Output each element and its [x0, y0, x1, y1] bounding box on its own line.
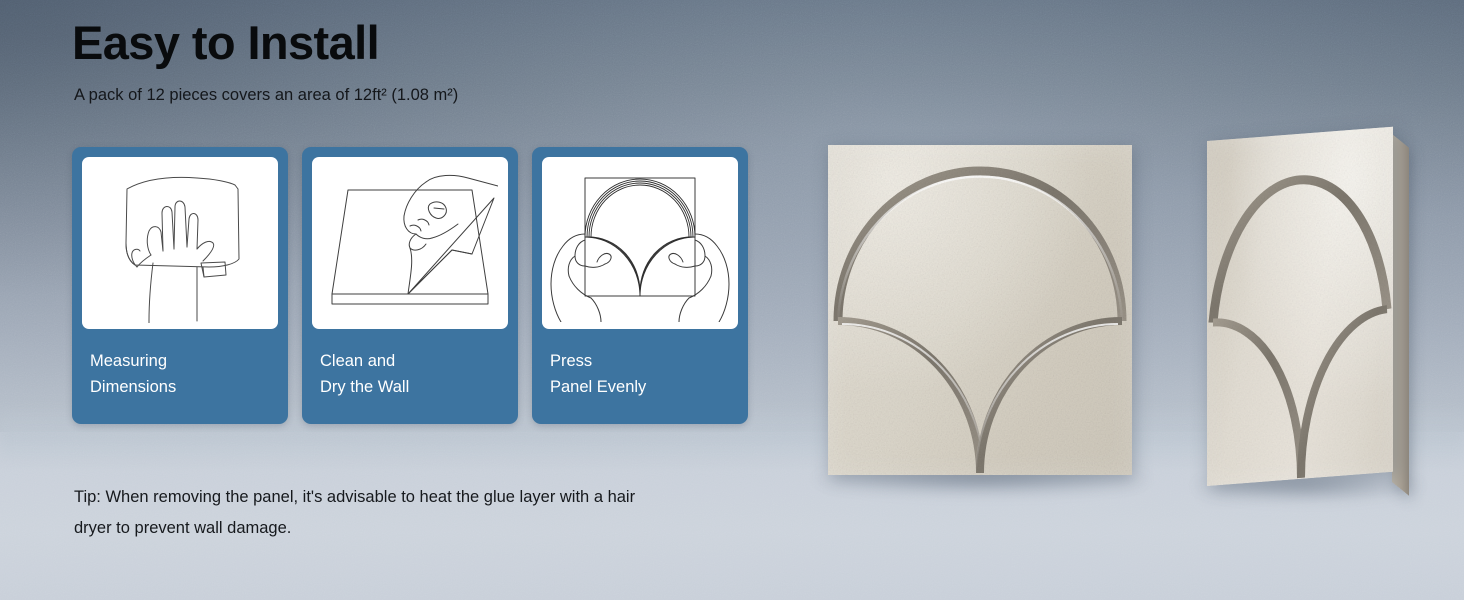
step-card-press-panel-evenly[interactable]: Press Panel Evenly — [532, 147, 748, 424]
side-panel-thickness-edge — [1392, 134, 1409, 496]
product-panel-angled — [1207, 127, 1393, 486]
step-card-label: Measuring Dimensions — [82, 348, 278, 400]
step-illustration-frame — [82, 157, 278, 329]
install-steps-list: Measuring Dimensions — [72, 147, 748, 424]
step-card-label: Clean and Dry the Wall — [312, 348, 508, 400]
hand-peeling-film-icon — [322, 168, 498, 318]
step-illustration-frame — [312, 157, 508, 329]
step-illustration-frame — [542, 157, 738, 329]
step-card-clean-dry-wall[interactable]: Clean and Dry the Wall — [302, 147, 518, 424]
hand-wiping-cloth-icon — [105, 163, 255, 323]
page-title: Easy to Install — [72, 18, 379, 68]
product-panel-front — [828, 145, 1132, 475]
step-card-measuring-dimensions[interactable]: Measuring Dimensions — [72, 147, 288, 424]
install-tip-text: Tip: When removing the panel, it's advis… — [74, 482, 674, 545]
page-subtitle: A pack of 12 pieces covers an area of 12… — [74, 86, 458, 105]
two-hands-pressing-panel-icon — [547, 164, 733, 322]
scene-backdrop: Easy to Install A pack of 12 pieces cove… — [0, 0, 1464, 600]
step-card-label: Press Panel Evenly — [542, 348, 738, 400]
